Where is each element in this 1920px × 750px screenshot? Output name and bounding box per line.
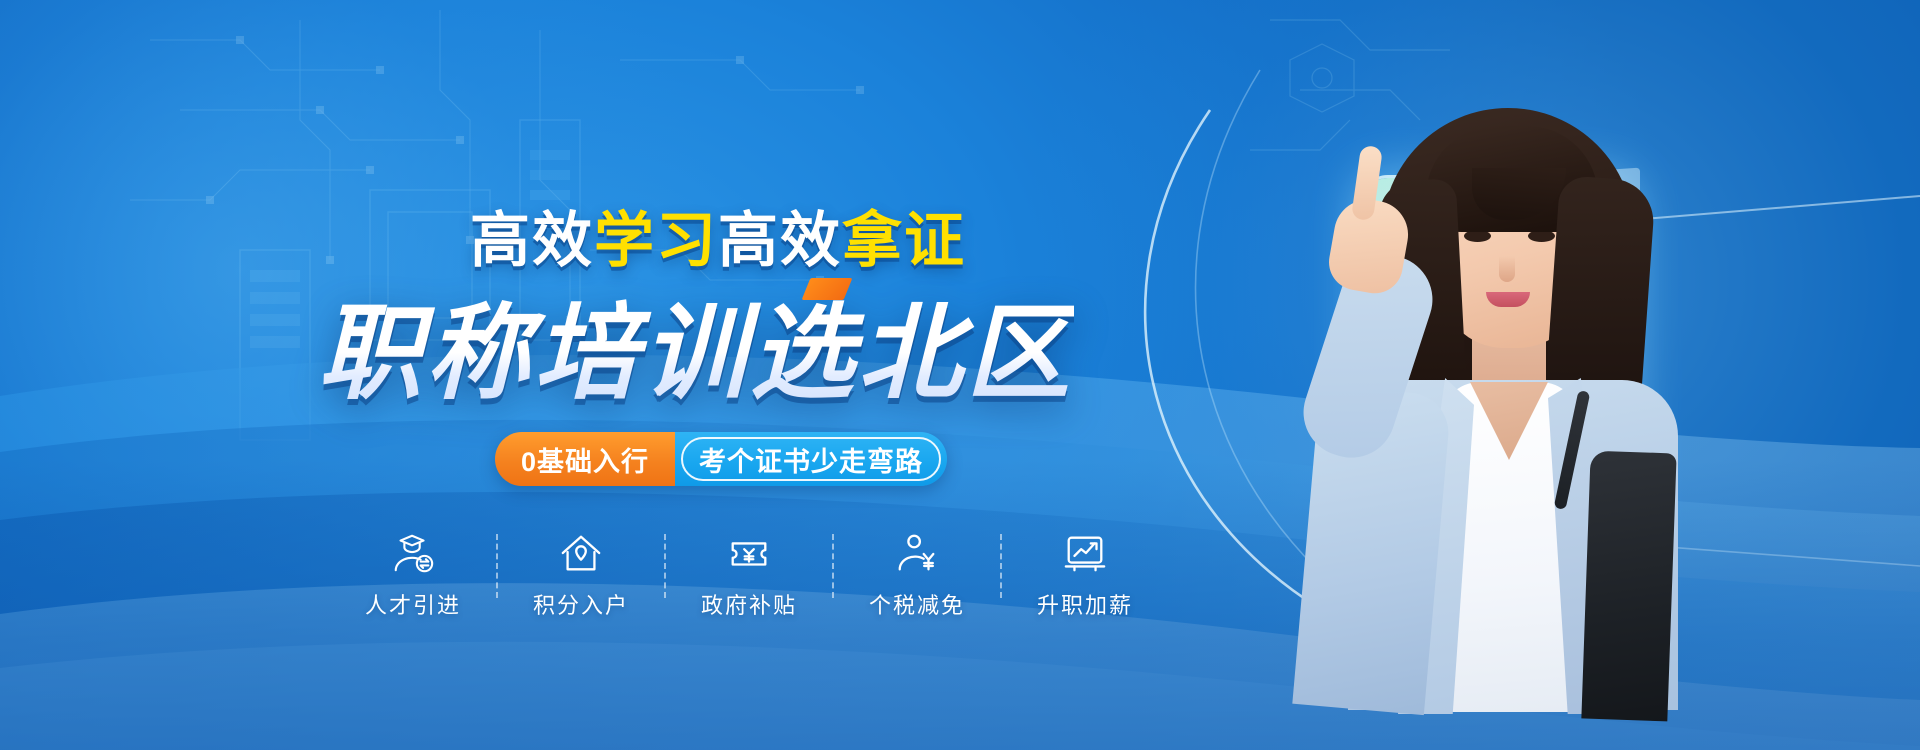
promo-banner: 高效学习高效拿证 职称培训选北区 0基础入行 考个证书少走弯路 人才引进 bbox=[0, 0, 1920, 750]
curved-arc-decor bbox=[1140, 0, 1920, 750]
feature-item-residence[interactable]: 积分入户 bbox=[498, 530, 664, 620]
person-illustration bbox=[1290, 60, 1760, 700]
headline-top-seg-0: 高效 bbox=[470, 207, 594, 274]
orange-accent-mark bbox=[802, 278, 853, 300]
person-yuan-icon bbox=[894, 530, 940, 576]
hero-figure-zone bbox=[1140, 0, 1920, 750]
copy-block: 高效学习高效拿证 职称培训选北区 0基础入行 考个证书少走弯路 人才引进 bbox=[0, 0, 1180, 750]
feature-label: 积分入户 bbox=[533, 588, 629, 620]
digital-squares-decor bbox=[1230, 0, 1920, 560]
feature-label: 人才引进 bbox=[365, 588, 461, 620]
feature-item-talent[interactable]: 人才引进 bbox=[330, 530, 496, 620]
headline-top-seg-3: 拿证 bbox=[842, 207, 966, 274]
tagline-pill: 0基础入行 考个证书少走弯路 bbox=[495, 432, 947, 486]
house-pin-icon bbox=[558, 530, 604, 576]
graduate-person-icon bbox=[390, 530, 436, 576]
pill-left-label: 0基础入行 bbox=[495, 432, 675, 486]
headline-top-seg-2: 高效 bbox=[718, 207, 842, 274]
headline-main: 职称培训选北区 bbox=[318, 268, 1074, 419]
chart-board-icon bbox=[1062, 530, 1108, 576]
voucher-yuan-icon bbox=[726, 530, 772, 576]
headline-top-seg-1: 学习 bbox=[594, 207, 718, 274]
feature-item-tax[interactable]: 个税减免 bbox=[834, 530, 1000, 620]
panel-edge-decor bbox=[1570, 168, 1640, 643]
feature-item-promotion[interactable]: 升职加薪 bbox=[1002, 530, 1168, 620]
feature-label: 政府补贴 bbox=[701, 588, 797, 620]
headline-top: 高效学习高效拿证 bbox=[470, 192, 966, 279]
feature-label: 升职加薪 bbox=[1037, 588, 1133, 620]
pill-right-label: 考个证书少走弯路 bbox=[675, 432, 947, 486]
feature-item-subsidy[interactable]: 政府补贴 bbox=[666, 530, 832, 620]
feature-label: 个税减免 bbox=[869, 588, 965, 620]
glow-panel-decor bbox=[1362, 178, 1630, 628]
feature-list: 人才引进 积分入户 政府补贴 bbox=[330, 530, 1168, 620]
